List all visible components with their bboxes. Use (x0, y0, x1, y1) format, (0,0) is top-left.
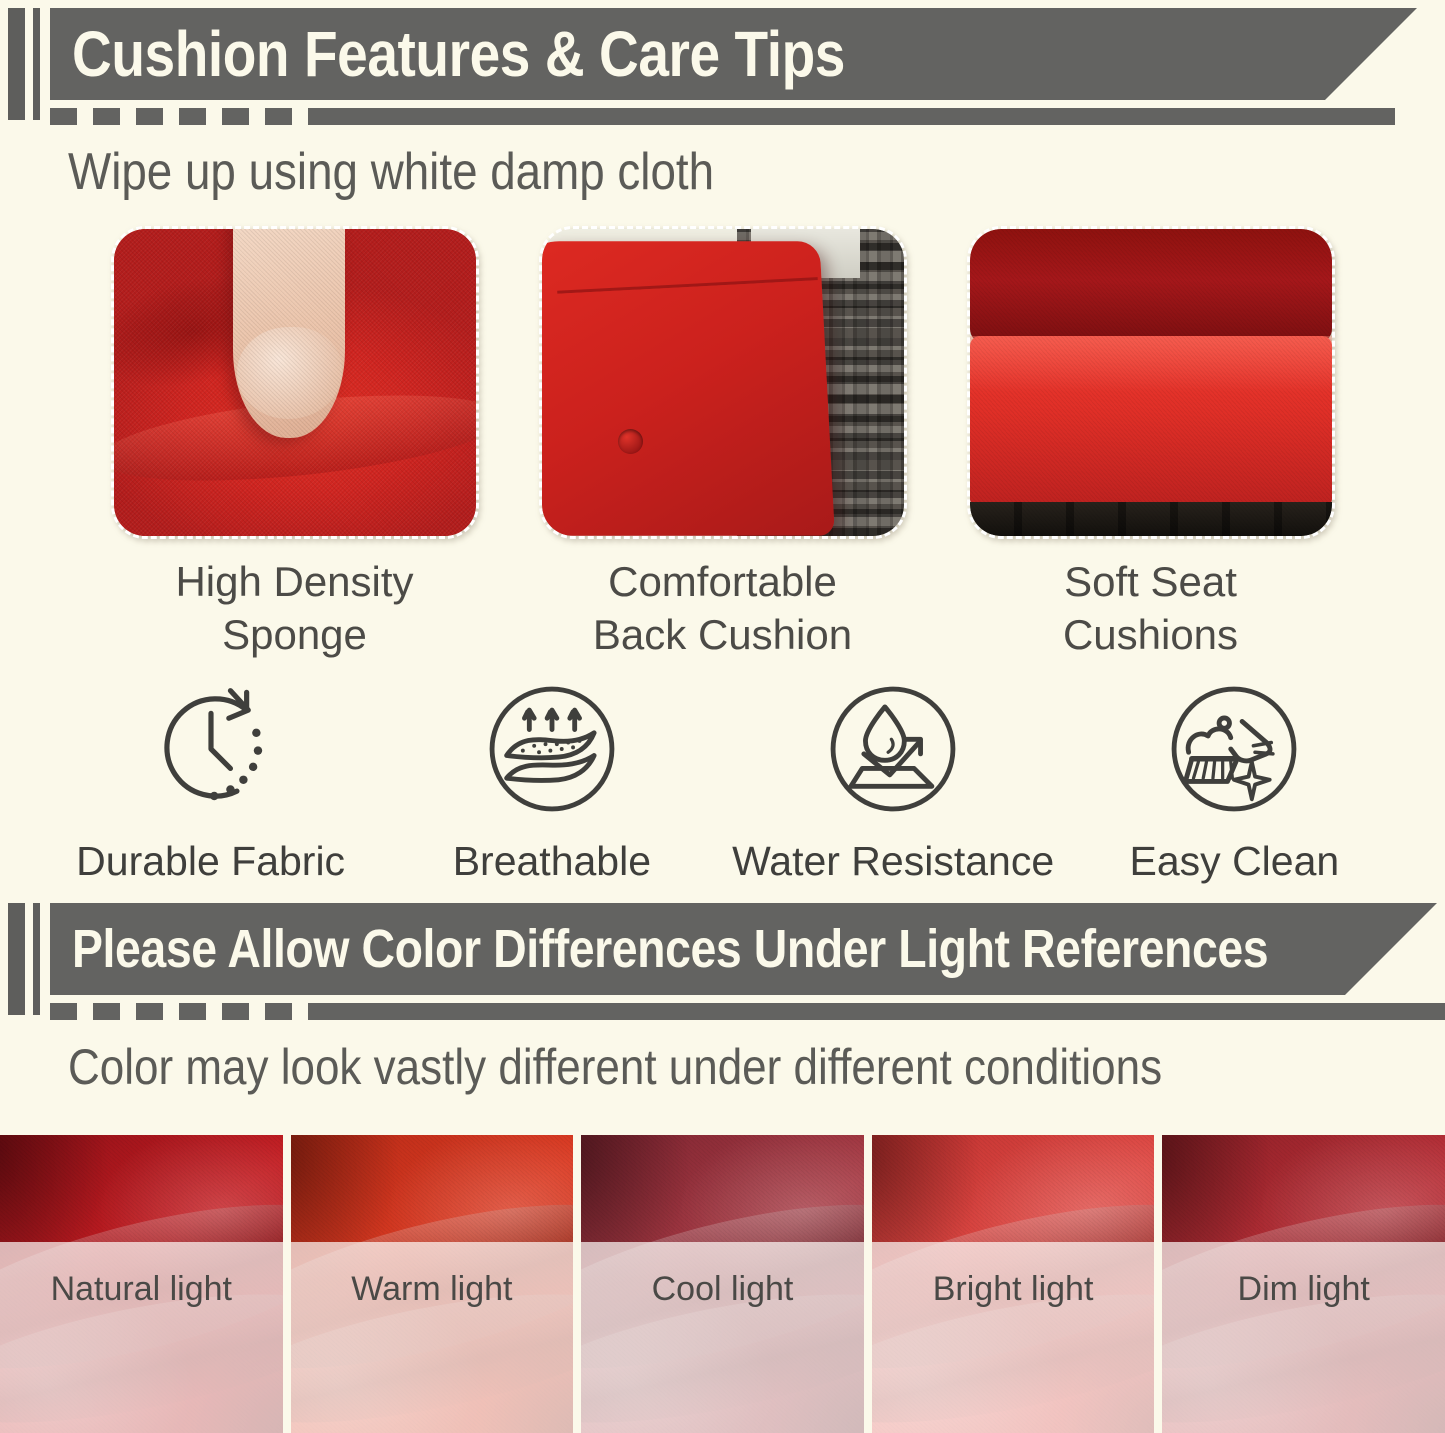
accent-bar-thin (33, 903, 40, 1015)
dash-segment (222, 1003, 249, 1020)
accent-bar-thin (33, 8, 40, 120)
infographic-page: Cushion Features & Care Tips Wipe up usi… (0, 0, 1445, 1433)
section-two-title: Please Allow Color Differences Under Lig… (72, 918, 1268, 980)
feature-breathable: Breathable (381, 668, 722, 885)
swatch-label: Warm light (351, 1270, 512, 1309)
section-one-subtitle: Wipe up using white damp cloth (68, 142, 714, 202)
section-two-dash-divider (50, 1003, 1445, 1020)
feature-label: Easy Clean (1130, 838, 1340, 885)
dash-segment (265, 1003, 292, 1020)
hand-pressing-cushion-photo (111, 226, 479, 539)
feature-label: Water Resistance (732, 838, 1054, 885)
swatch-label: Cool light (652, 1270, 794, 1309)
swatch-label-overlay: Cool light (581, 1242, 864, 1433)
feature-label: Durable Fabric (76, 838, 345, 885)
clock-rotate-icon (126, 668, 296, 830)
breathable-fabric-icon (467, 668, 637, 830)
photo-caption: Comfortable Back Cushion (539, 555, 907, 662)
swatch-dim-light: Dim light (1162, 1135, 1445, 1433)
dash-segment (136, 1003, 163, 1020)
dash-long-bar (308, 108, 1395, 125)
swatch-cool-light: Cool light (581, 1135, 864, 1433)
left-accent-bars (0, 8, 48, 120)
swatch-label-overlay: Dim light (1162, 1242, 1445, 1433)
back-cushion-photo (539, 226, 907, 539)
section-two-banner: Please Allow Color Differences Under Lig… (50, 903, 1437, 995)
section-one-title: Cushion Features & Care Tips (72, 17, 845, 91)
swatch-label-overlay: Bright light (872, 1242, 1155, 1433)
feature-icon-row: Durable Fabric (0, 668, 1445, 885)
seat-cushion-photo (967, 226, 1335, 539)
dash-segment (93, 108, 120, 125)
swatch-natural-light: Natural light (0, 1135, 283, 1433)
photo-cell-comfortable-back-cushion: Comfortable Back Cushion (539, 226, 907, 662)
swatch-label: Natural light (51, 1270, 232, 1309)
swatch-bright-light: Bright light (872, 1135, 1155, 1433)
photo-caption: Soft Seat Cushions (967, 555, 1335, 662)
section-two-subtitle: Color may look vastly different under di… (68, 1038, 1162, 1096)
swatch-label-overlay: Natural light (0, 1242, 283, 1433)
section-one-banner: Cushion Features & Care Tips (50, 8, 1417, 100)
photo-cell-high-density-sponge: High Density Sponge (111, 226, 479, 662)
dash-segment (179, 1003, 206, 1020)
dash-long-bar (308, 1003, 1445, 1020)
photo-caption: High Density Sponge (111, 555, 479, 662)
section-one-dash-divider (50, 108, 1445, 125)
swatch-warm-light: Warm light (291, 1135, 574, 1433)
dash-segment (179, 108, 206, 125)
dash-segment (265, 108, 292, 125)
swatch-label: Dim light (1238, 1270, 1370, 1309)
photo-cell-soft-seat-cushions: Soft Seat Cushions (967, 226, 1335, 662)
dash-segment (136, 108, 163, 125)
dash-segment (93, 1003, 120, 1020)
left-accent-bars (0, 903, 48, 1015)
dash-segment (50, 1003, 77, 1020)
dash-segment (50, 108, 77, 125)
feature-durable-fabric: Durable Fabric (40, 668, 381, 885)
light-reference-swatch-strip: Natural light Warm light Cool light (0, 1135, 1445, 1433)
section-one-banner-block: Cushion Features & Care Tips (0, 8, 1445, 120)
feature-easy-clean: Easy Clean (1064, 668, 1405, 885)
brush-sparkle-icon (1149, 668, 1319, 830)
feature-label: Breathable (453, 838, 651, 885)
product-photo-row: High Density Sponge Comfortable Back Cus… (0, 226, 1445, 662)
section-two-banner-block: Please Allow Color Differences Under Lig… (0, 903, 1445, 1015)
accent-bar-thick (8, 903, 25, 1015)
dash-segment (222, 108, 249, 125)
accent-bar-thick (8, 8, 25, 120)
feature-water-resistance: Water Resistance (723, 668, 1064, 885)
water-droplet-repel-icon (808, 668, 978, 830)
swatch-label: Bright light (933, 1270, 1094, 1309)
swatch-label-overlay: Warm light (291, 1242, 574, 1433)
